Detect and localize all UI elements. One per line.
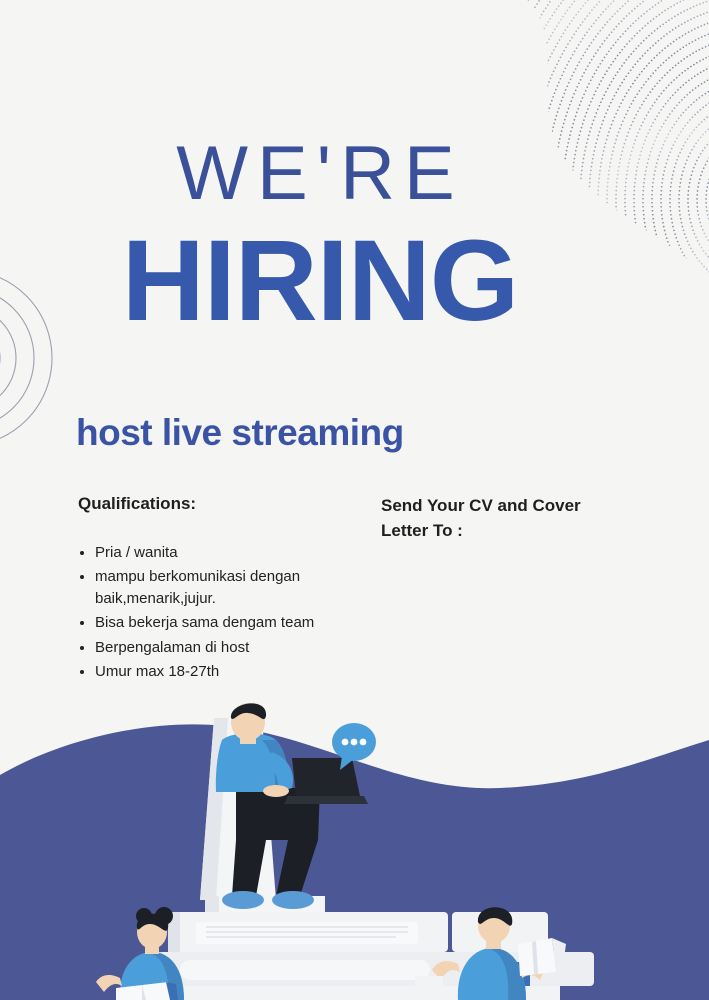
shoe-left (222, 891, 264, 909)
list-item: Umur max 18-27th (78, 660, 368, 684)
man-hand (263, 785, 289, 797)
headline-hiring: HIRING (0, 224, 640, 339)
list-item: Bisa bekerja sama dengam team (78, 611, 368, 635)
qualifications-heading: Qualifications: (78, 494, 196, 514)
list-item-continuation: baik,menarik,jujur. (78, 587, 368, 611)
job-title: host live streaming (76, 412, 404, 454)
headline-were: WE'RE (0, 138, 640, 210)
list-item: Berpengalaman di host (78, 636, 368, 660)
laptop-base (284, 796, 368, 804)
bubble-dot (342, 739, 349, 746)
bubble-dot (351, 739, 358, 746)
list-item: Pria / wanita (78, 541, 368, 565)
bubble-dot (360, 739, 367, 746)
headline-block: WE'RE HIRING (0, 138, 640, 339)
shoe-right (272, 891, 314, 909)
qualifications-list: Pria / wanita mampu berkomunikasi dengan… (78, 541, 368, 685)
laptop-screen (292, 758, 360, 796)
contact-heading: Send Your CV and Cover Letter To : (381, 494, 611, 543)
bottom-illustration (0, 700, 709, 1000)
hiring-poster: WE'RE HIRING host live streaming Qualifi… (0, 0, 709, 1000)
